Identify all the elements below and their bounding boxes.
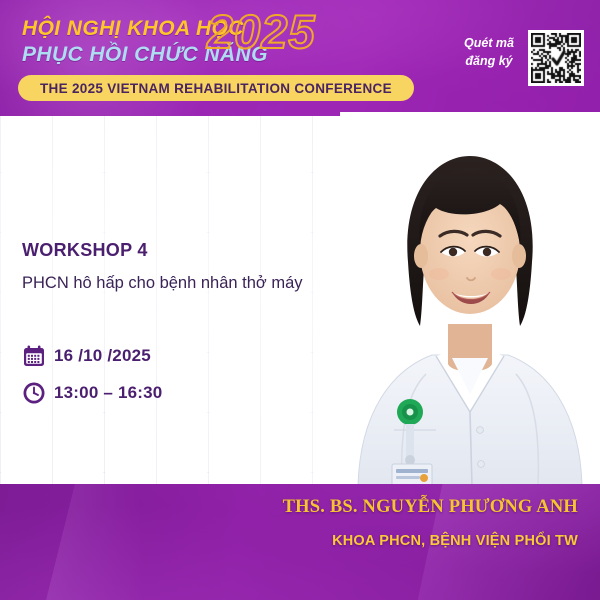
workshop-time: 13:00 – 16:30 <box>54 383 162 403</box>
workshop-date-row: 16 /10 /2025 <box>22 344 151 368</box>
qr-code-icon[interactable] <box>528 30 584 86</box>
clock-icon <box>22 381 46 405</box>
qr-label-line-1: Quét mã <box>464 36 514 50</box>
poster-header: HỘI NGHỊ KHOA HỌC PHỤC HỒI CHỨC NĂNG 202… <box>0 0 600 116</box>
workshop-date: 16 /10 /2025 <box>54 346 151 366</box>
conference-name-label: THE 2025 VIETNAM REHABILITATION CONFEREN… <box>40 81 392 96</box>
workshop-title: WORKSHOP 4 <box>22 240 148 261</box>
qr-label: Quét mã đăng ký <box>455 34 523 70</box>
qr-code-canvas <box>531 33 581 83</box>
speaker-affiliation: KHOA PHCN, BỆNH VIỆN PHỔI TW <box>332 533 578 549</box>
conference-name-pill: THE 2025 VIETNAM REHABILITATION CONFEREN… <box>18 75 414 101</box>
workshop-time-row: 13:00 – 16:30 <box>22 381 162 405</box>
qr-label-line-2: đăng ký <box>465 54 512 68</box>
conference-poster: HỘI NGHỊ KHOA HỌC PHỤC HỒI CHỨC NĂNG 202… <box>0 0 600 600</box>
header-year: 2025 <box>207 8 316 55</box>
speaker-portrait <box>340 112 600 486</box>
calendar-icon <box>22 344 46 368</box>
workshop-description: PHCN hô hấp cho bệnh nhân thở máy <box>22 272 322 295</box>
speaker-name: THS. BS. NGUYỄN PHƯƠNG ANH <box>283 497 578 518</box>
